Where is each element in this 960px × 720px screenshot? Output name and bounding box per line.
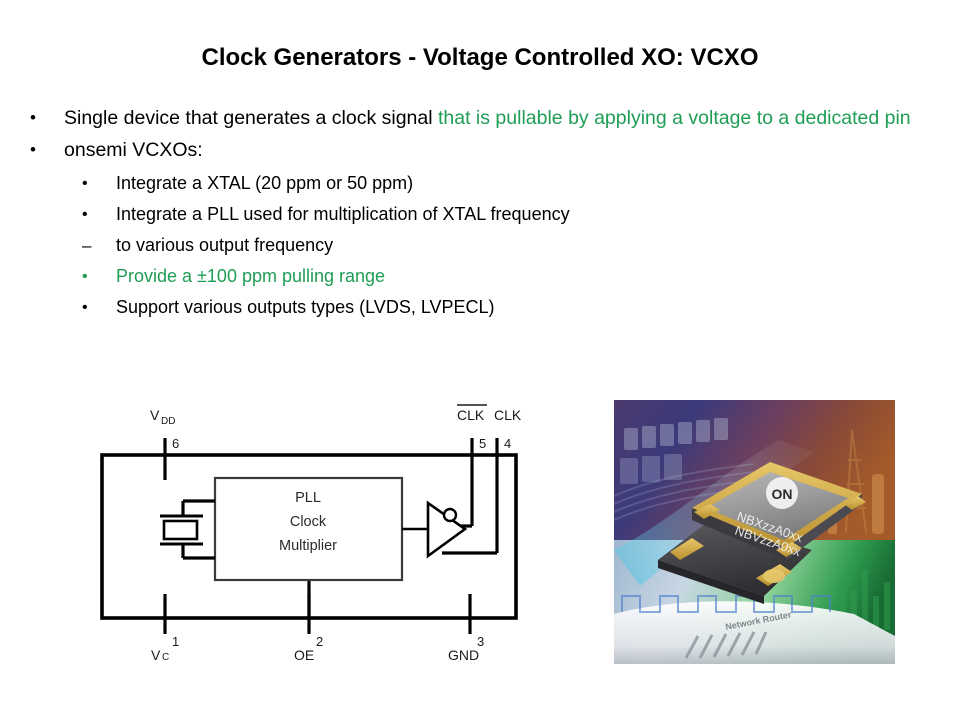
pin-number-2: 2 [316,634,323,649]
bullet-item: • onsemi VCXOs: [0,136,960,164]
product-photo: Network Router [614,400,895,664]
bullet-text: Integrate a XTAL (20 ppm or 50 ppm) [116,168,960,199]
bullet-text-highlight: that is pullable by applying a voltage t… [438,107,911,129]
bullet-text-plain: Single device that generates a clock sig… [64,107,438,129]
pll-block-label-line2: Clock [290,514,327,530]
page-title: Clock Generators - Voltage Controlled XO… [0,44,960,72]
pin-sublabel-vc: C [162,652,169,660]
pin-label-vc: V [151,647,161,660]
pin-label-clk-bar: CLK [457,407,485,423]
bullet-text: Single device that generates a clock sig… [64,104,960,132]
bullet-item: •Integrate a XTAL (20 ppm or 50 ppm) [0,168,960,199]
bullet-text-plain: to various output frequency [116,235,333,255]
pin-number-5: 5 [479,436,486,451]
bullet-text: onsemi VCXOs: [64,136,960,164]
pin-number-1: 1 [172,634,179,649]
pin-label-oe: OE [294,647,314,660]
pin-label-clk: CLK [494,407,522,423]
bullet-text-plain: onsemi VCXOs: [64,139,203,161]
bullet-text-plain: Integrate a PLL used for multiplication … [116,204,570,224]
bullet-marker: – [82,230,116,261]
pin-label-vdd: V [150,407,160,423]
bullet-text: Provide a ±100 ppm pulling range [116,261,960,292]
pin-sublabel-vdd: DD [161,416,175,427]
slide-canvas: Clock Generators - Voltage Controlled XO… [0,0,960,720]
bullet-item: •Single device that generates a clock si… [0,104,960,132]
bullet-marker: • [82,199,116,230]
bullet-item: –to various output frequency [0,230,960,261]
bullet-text-highlight: Provide a ±100 ppm pulling range [116,266,385,286]
pll-block-label-line1: PLL [295,490,321,506]
on-logo-text: ON [772,486,793,502]
bullet-item: •Integrate a PLL used for multiplication… [0,199,960,230]
pll-block-label-line3: Multiplier [279,538,337,554]
bullet-list: •Single device that generates a clock si… [0,104,960,323]
bullet-text-plain: Integrate a XTAL (20 ppm or 50 ppm) [116,173,413,193]
bullet-marker: • [82,261,116,292]
bullet-marker: • [30,104,64,132]
bullet-text: Support various outputs types (LVDS, LVP… [116,292,960,323]
pin-number-4: 4 [504,436,511,451]
bullet-text-plain: Support various outputs types (LVDS, LVP… [116,297,495,317]
pin-label-gnd: GND [448,647,479,660]
pin-number-6: 6 [172,436,179,451]
bullet-item: •Support various outputs types (LVDS, LV… [0,292,960,323]
bullet-marker: • [82,168,116,199]
bullet-text: Integrate a PLL used for multiplication … [116,199,960,230]
vcxo-block-diagram: PLL Clock Multiplier V DD 6 CLK [90,398,550,660]
bullet-item: •Provide a ±100 ppm pulling range [0,261,960,292]
bullet-text: to various output frequency [116,230,960,261]
bullet-marker: • [82,292,116,323]
bullet-marker: • [30,136,64,164]
